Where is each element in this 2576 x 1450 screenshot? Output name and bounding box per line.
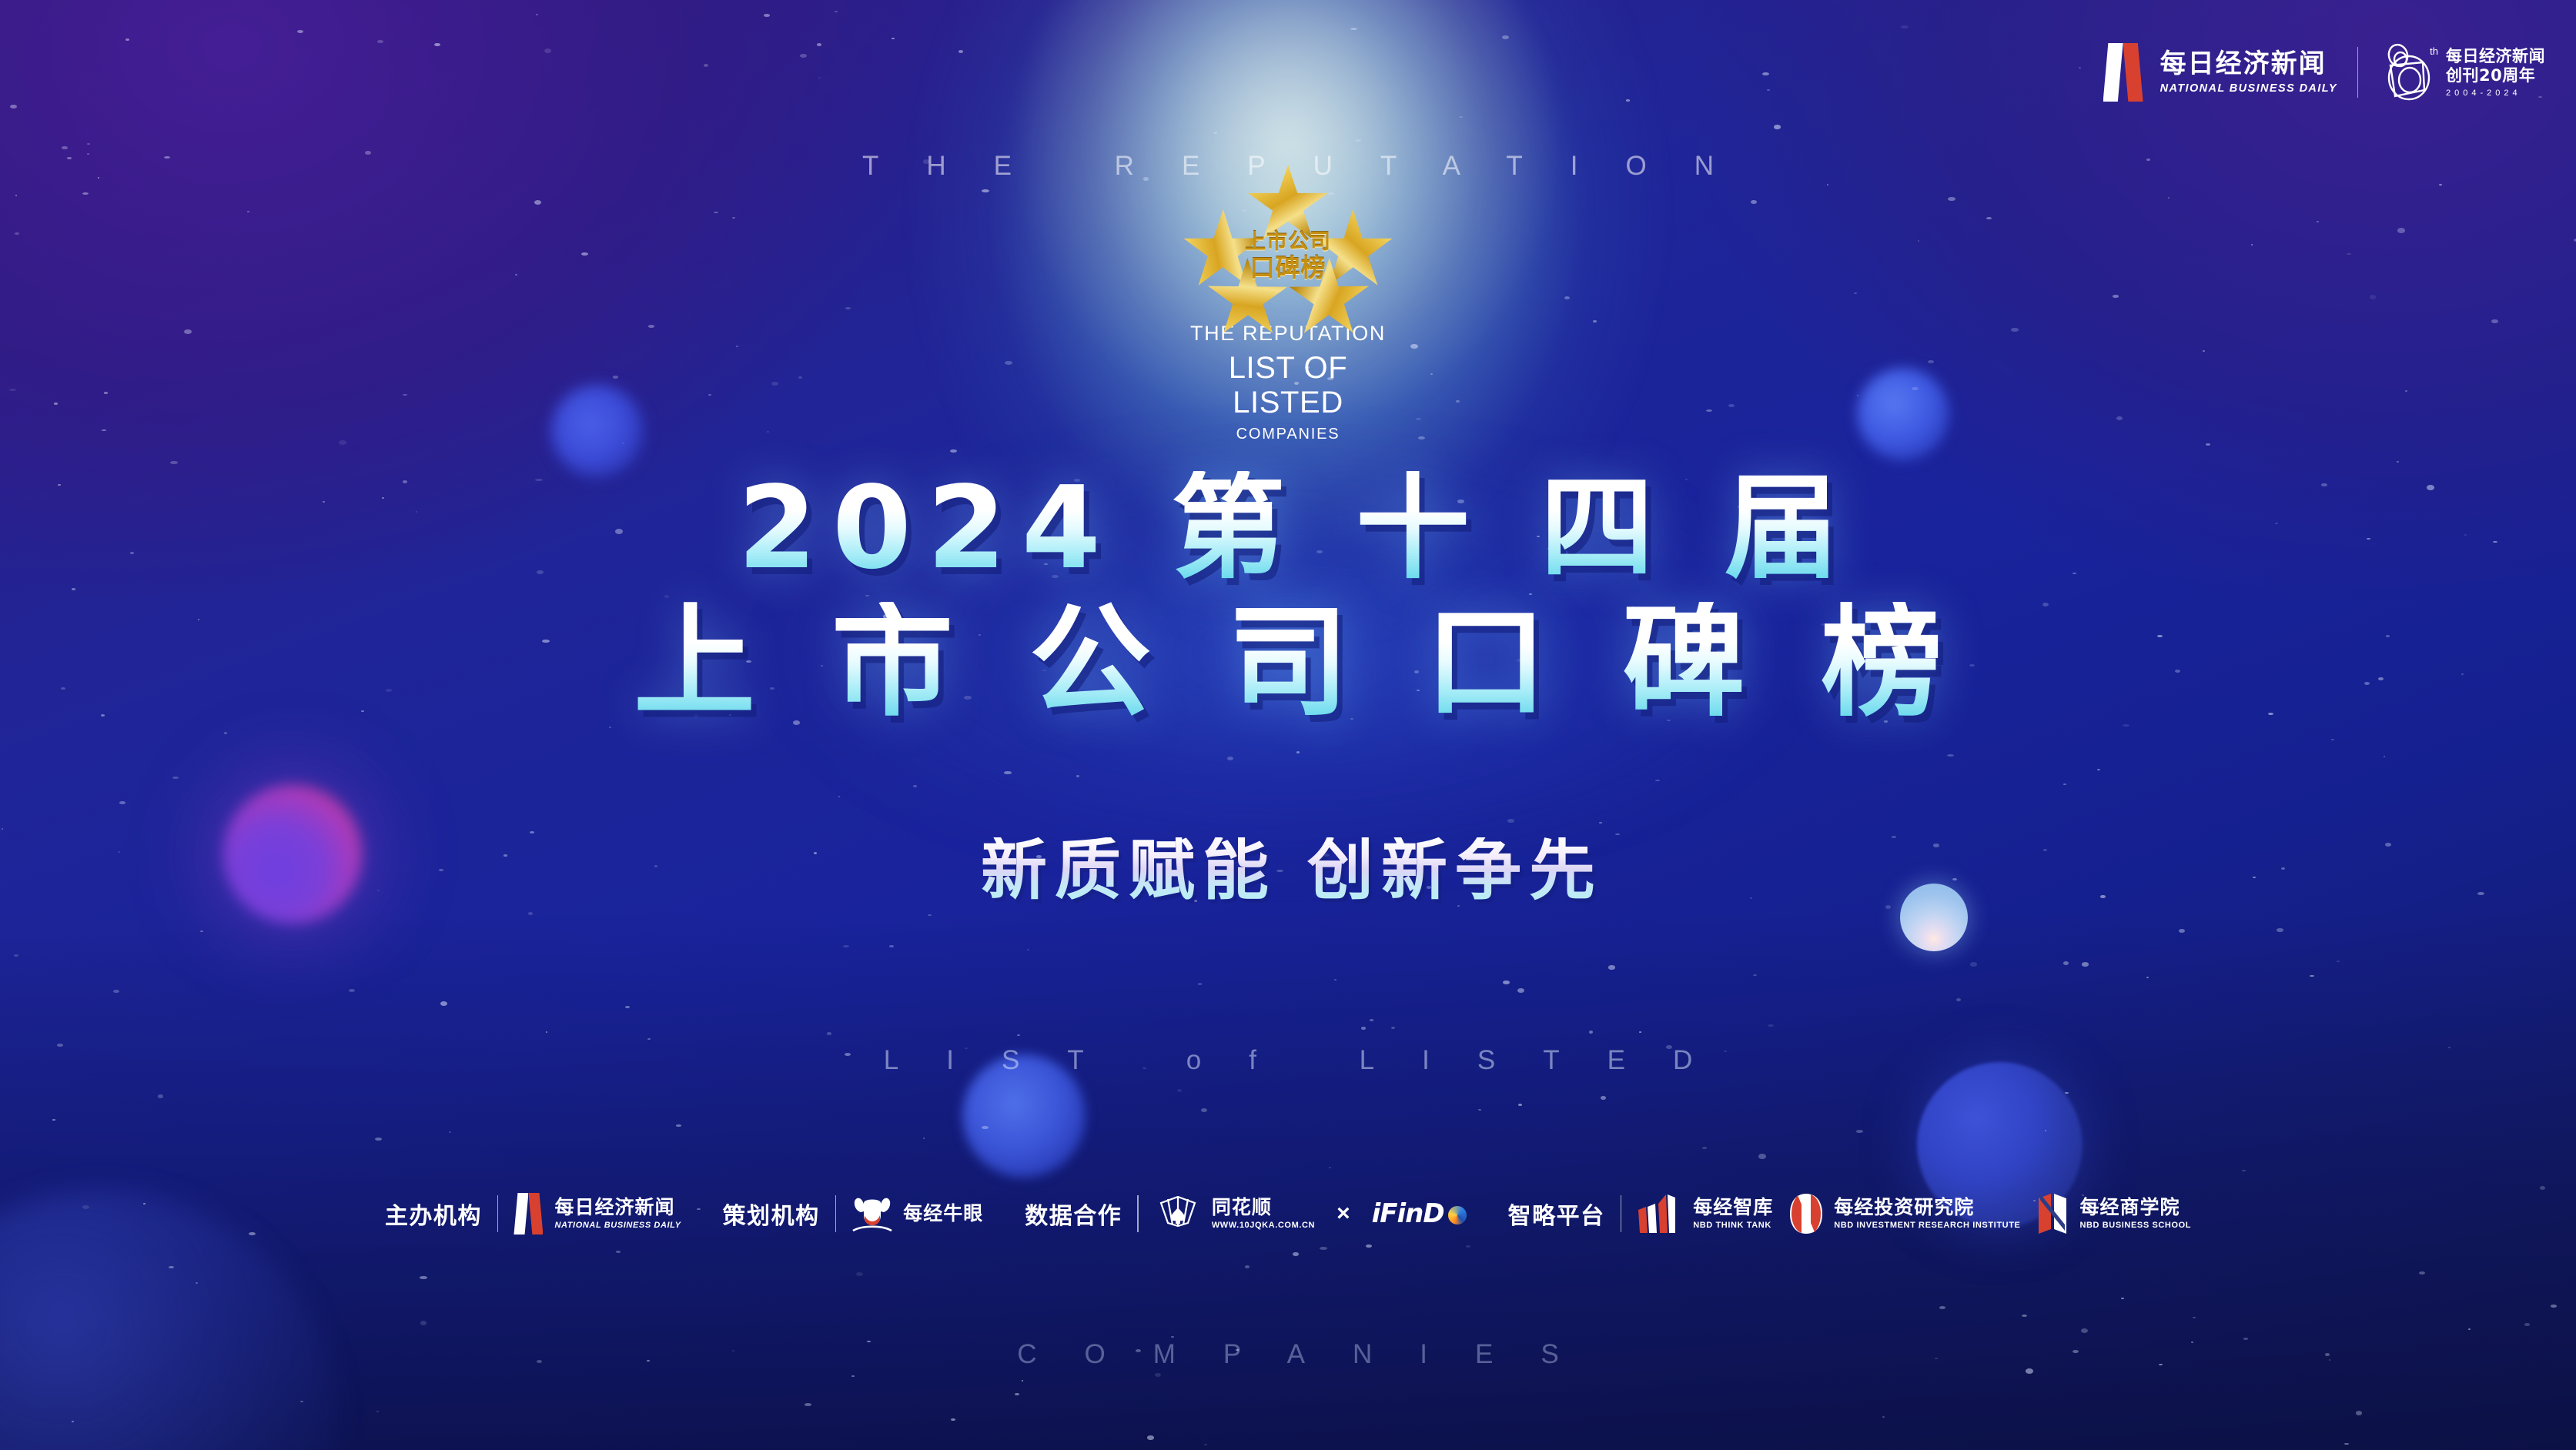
partner-logo-invest-institute[interactable]: 每经投资研究院 NBD INVESTMENT RESEARCH INSTITUT…	[1788, 1192, 2020, 1235]
anniversary-badge: th 每日经济新闻 创刊20周年 2004-2024	[2378, 42, 2545, 102]
title-line-1: 2024 第 十 四 届	[0, 471, 2576, 585]
divider	[497, 1195, 499, 1232]
partner-name-en: iFinD	[1372, 1198, 1444, 1229]
partner-logo-think-tank[interactable]: 每经智库 NBD THINK TANK	[1637, 1193, 1773, 1235]
nbd-name-en: NATIONAL BUSINESS DAILY	[2160, 82, 2337, 95]
divider	[2357, 47, 2358, 98]
partner-group-data: 数据合作 同花顺 WWW.10JQK	[1025, 1185, 1466, 1242]
decor-sphere-blue-small	[551, 385, 644, 477]
partner-logo[interactable]: 每日经济新闻 NATIONAL BUSINESS DAILY	[514, 1193, 681, 1235]
partner-name-en: NBD THINK TANK	[1693, 1221, 1773, 1230]
partner-name-en: NATIONAL BUSINESS DAILY	[554, 1221, 681, 1230]
partner-name-zh: 每日经济新闻	[554, 1198, 681, 1218]
partner-name-en: NBD BUSINESS SCHOOL	[2079, 1221, 2191, 1230]
ifind-icon[interactable]: iFinD	[1372, 1198, 1467, 1229]
partner-name-zh: 每经智库	[1693, 1198, 1773, 1218]
partner-label: 智略平台	[1508, 1197, 1605, 1231]
emblem-center-text: 上市公司 口碑榜	[1236, 231, 1340, 282]
partner-name-zh: 每经投资研究院	[1834, 1198, 2020, 1218]
partner-group-organizer: 主办机构 每日经济新闻 NATIONAL BUSINESS DAILY	[385, 1185, 681, 1242]
five-stars-icon: 上市公司 口碑榜	[1173, 171, 1403, 309]
award-emblem: 上市公司 口碑榜 THE REPUTATION LIST OF LISTED C…	[1173, 171, 1403, 443]
nbd-school-icon	[2036, 1192, 2069, 1235]
subtitle: 新质赋能 创新争先	[0, 837, 2576, 904]
bull-head-icon	[851, 1194, 893, 1234]
nbd-invest-icon	[1788, 1192, 1824, 1235]
anniversary-years: 2004-2024	[2446, 89, 2545, 98]
partner-name-zh: 每经商学院	[2079, 1198, 2191, 1218]
partner-label: 策划机构	[723, 1197, 820, 1231]
nbd-think-tank-icon	[1637, 1193, 1683, 1235]
partner-separator: ×	[1337, 1201, 1350, 1227]
partner-group-platform: 智略平台 每经智库 NBD THINK TANK	[1508, 1185, 2192, 1242]
partner-logo[interactable]: 每经牛眼	[851, 1194, 983, 1234]
nbd-logo-mark	[2103, 43, 2146, 102]
partner-group-planner: 策划机构 每经牛眼	[723, 1185, 984, 1242]
emblem-en-line3: COMPANIES	[1173, 426, 1403, 443]
divider	[835, 1195, 837, 1232]
divider	[1621, 1195, 1622, 1232]
partner-bar: 主办机构 每日经济新闻 NATIONAL BUSINESS DAILY 策划机构	[0, 1185, 2576, 1242]
partner-url: WWW.10JQKA.COM.CN	[1212, 1221, 1315, 1230]
partner-label: 主办机构	[385, 1197, 482, 1231]
tonghuashun-icon	[1154, 1192, 1202, 1235]
poster-canvas: 每日经济新闻 NATIONAL BUSINESS DAILY th 每日经济新闻…	[0, 0, 2576, 1450]
partner-logo-business-school[interactable]: 每经商学院 NBD BUSINESS SCHOOL	[2036, 1192, 2191, 1235]
emblem-core-line2: 口碑榜	[1236, 255, 1340, 282]
deco-text-bottom: COMPANIES	[0, 1339, 2576, 1370]
emblem-en-line2: LIST OF LISTED	[1173, 351, 1403, 420]
partner-label: 数据合作	[1025, 1197, 1122, 1231]
brand-lockup: 每日经济新闻 NATIONAL BUSINESS DAILY th 每日经济新闻…	[2103, 32, 2545, 112]
partner-name-en: NBD INVESTMENT RESEARCH INSTITUTE	[1834, 1221, 2020, 1230]
partner-logo-tonghuashun[interactable]: 同花顺 WWW.10JQKA.COM.CN	[1154, 1192, 1315, 1235]
decor-sphere-blue-right	[1857, 368, 1949, 460]
emblem-core-line1: 上市公司	[1236, 231, 1340, 253]
ifind-dot-icon	[1448, 1206, 1467, 1224]
nbd-logo-mark	[514, 1193, 544, 1235]
title-line-2: 上 市 公 司 口 碑 榜	[0, 602, 2576, 723]
emblem-en-line1: THE REPUTATION	[1173, 322, 1403, 346]
anniversary-20-icon: th	[2378, 42, 2435, 102]
main-title: 2024 第 十 四 届 上 市 公 司 口 碑 榜	[0, 471, 2576, 723]
nbd-name-zh: 每日经济新闻	[2160, 51, 2337, 77]
anniversary-superscript: th	[2430, 45, 2438, 57]
deco-text-middle: LIST of LISTED	[0, 1045, 2576, 1076]
partner-name-zh: 每经牛眼	[903, 1204, 983, 1224]
partner-name-zh: 同花顺	[1212, 1198, 1315, 1218]
anniversary-line1: 每日经济新闻	[2446, 47, 2545, 66]
anniversary-line2: 创刊20周年	[2446, 66, 2545, 85]
nbd-logo: 每日经济新闻 NATIONAL BUSINESS DAILY	[2103, 43, 2337, 102]
divider	[1137, 1195, 1139, 1232]
